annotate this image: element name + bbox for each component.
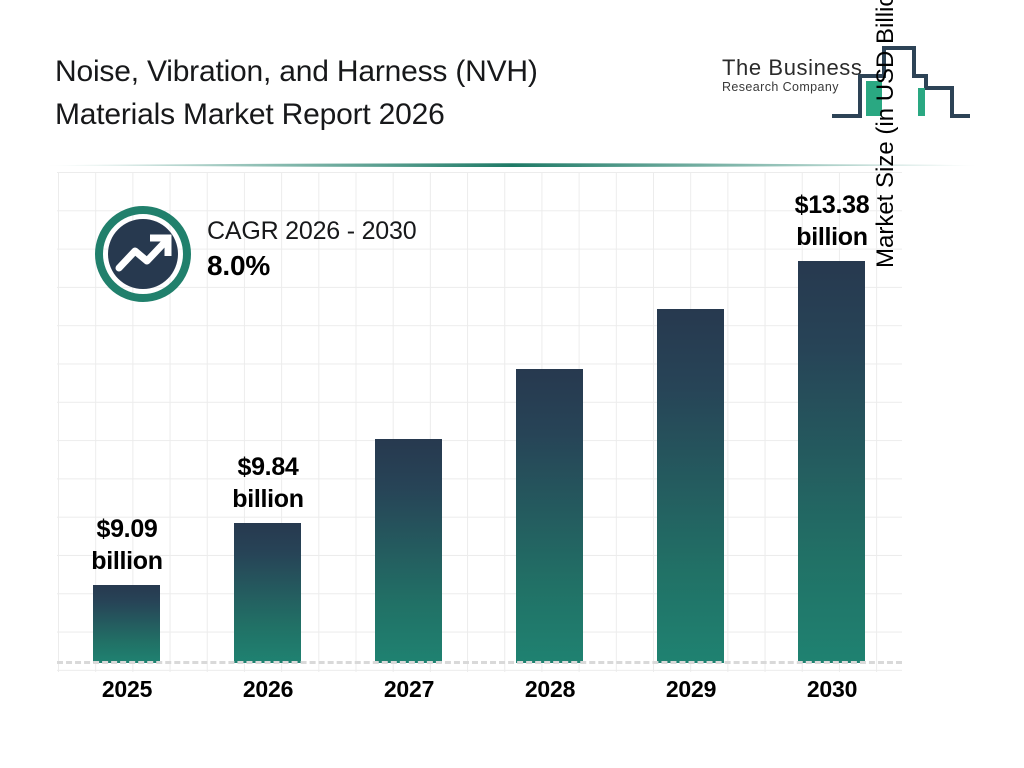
trending-up-arrow-icon	[95, 206, 191, 307]
chart-baseline	[57, 661, 902, 664]
bar-chart-outline-logo-icon	[830, 36, 970, 129]
bar-slot-2028	[480, 172, 620, 663]
bar-2028[interactable]	[516, 369, 583, 663]
cagr-badge: CAGR 2026 - 2030 8.0%	[95, 202, 495, 312]
x-tick-2029: 2029	[621, 676, 761, 703]
bar-2029[interactable]	[657, 309, 724, 663]
x-tick-2028: 2028	[480, 676, 620, 703]
bar-2030[interactable]	[798, 261, 865, 663]
bar-2026[interactable]	[234, 523, 301, 663]
bar-value-label-2026: $9.84 billion	[194, 451, 342, 515]
x-tick-2026: 2026	[198, 676, 338, 703]
bar-value-label-2025: $9.09 billion	[53, 513, 201, 577]
page-header: Noise, Vibration, and Harness (NVH) Mate…	[0, 0, 1024, 152]
page-title: Noise, Vibration, and Harness (NVH) Mate…	[55, 50, 675, 136]
cagr-text-block: CAGR 2026 - 2030 8.0%	[207, 214, 416, 284]
x-tick-2030: 2030	[762, 676, 902, 703]
bar-2025[interactable]	[93, 585, 160, 663]
bar-2027[interactable]	[375, 439, 442, 663]
chart-page: Noise, Vibration, and Harness (NVH) Mate…	[0, 0, 1024, 768]
cagr-period-label: CAGR 2026 - 2030	[207, 214, 416, 248]
x-tick-2025: 2025	[57, 676, 197, 703]
cagr-value-label: 8.0%	[207, 248, 416, 284]
x-axis-ticks: 2025 2026 2027 2028 2029 2030	[57, 676, 902, 720]
bar-chart: $9.09 billion $9.84 billion	[0, 164, 1024, 768]
header-divider	[48, 156, 976, 164]
x-tick-2027: 2027	[339, 676, 479, 703]
company-logo: The Business Research Company	[722, 36, 972, 124]
y-axis-title: Market Size (in USD Billion)	[872, 0, 900, 268]
bar-slot-2029	[621, 172, 761, 663]
